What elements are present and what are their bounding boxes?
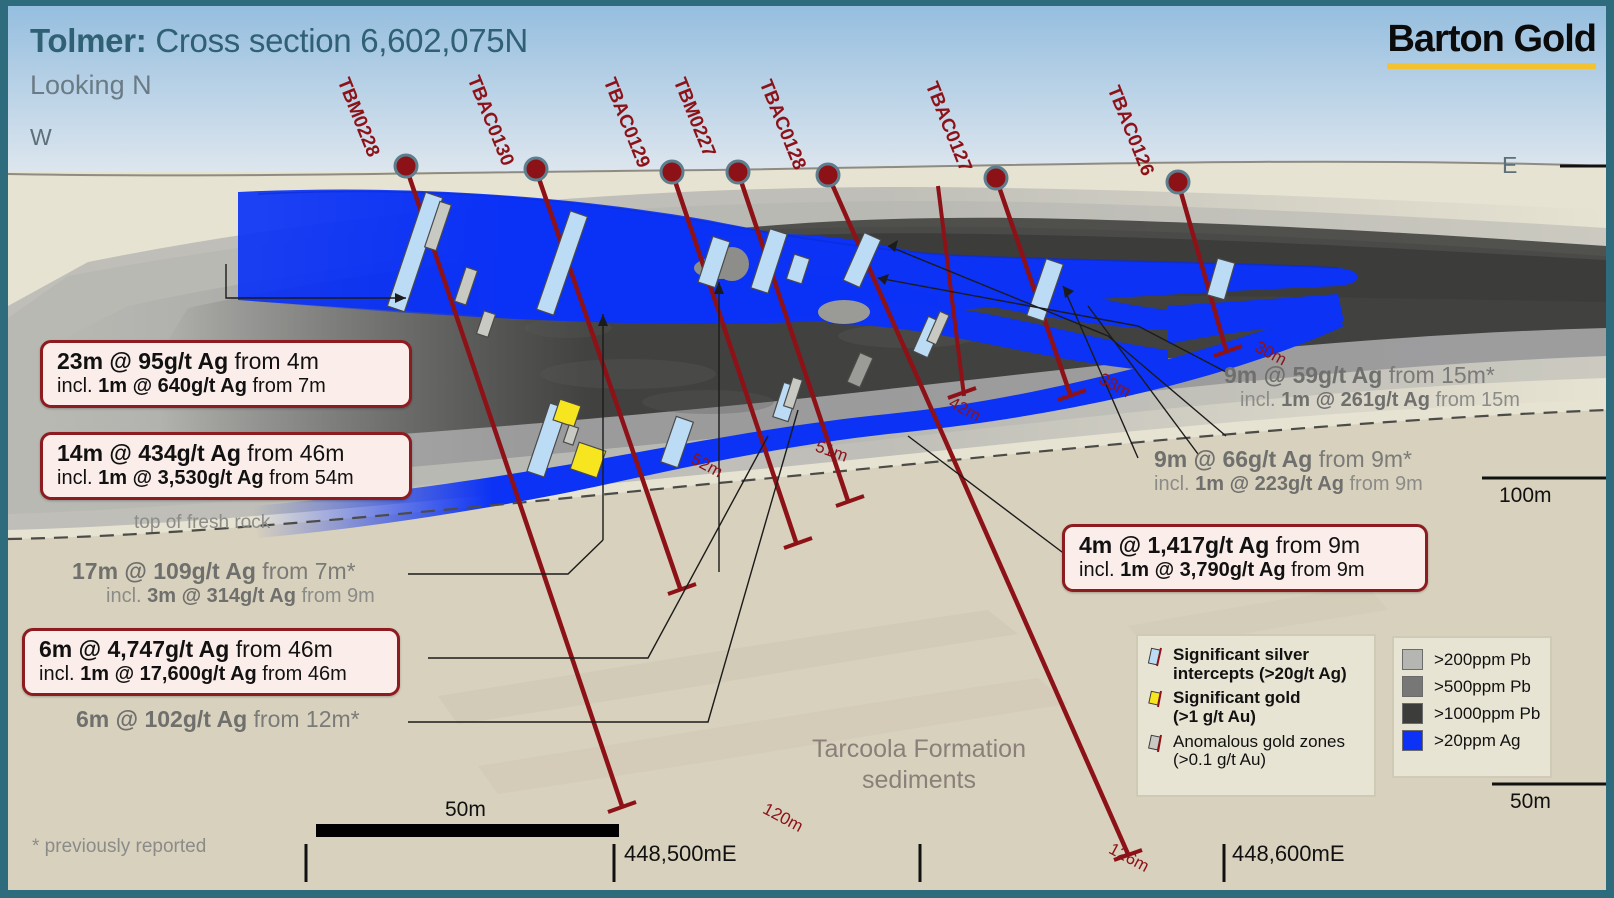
grey-annotation-1: 17m @ 109g/t Ag from 7m* incl. 3m @ 314g…: [72, 558, 375, 608]
title-bold: Tolmer:: [30, 22, 146, 59]
legend-pb1000-label: >1000ppm Pb: [1434, 704, 1540, 724]
callout-box-4: 4m @ 1,417g/t Ag from 9m incl. 1m @ 3,79…: [1062, 524, 1428, 592]
looking-direction: Looking N: [30, 70, 152, 101]
gold-intercept-icon: [1148, 689, 1168, 711]
scale-bar-label: 50m: [445, 798, 486, 822]
callout-4-line2: incl. 1m @ 3,790g/t Ag from 9m: [1079, 559, 1411, 582]
grey-4-line1: 9m @ 66g/t Ag from 9m*: [1154, 446, 1423, 473]
grey-annotation-2: 6m @ 102g/t Ag from 12m*: [76, 706, 360, 733]
formation-line-2: sediments: [794, 765, 1044, 796]
anomalous-gold-icon: [1148, 733, 1168, 755]
legend-anomalous-text: Anomalous gold zones(>0.1 g/t Au): [1173, 733, 1345, 770]
grey-4-line2: incl. 1m @ 223g/t Ag from 9m: [1154, 473, 1423, 496]
formation-label: Tarcoola Formation sediments: [794, 734, 1044, 797]
legend-item-silver: Significant silverintercepts (>20g/t Ag): [1148, 646, 1366, 683]
elevation-label-50m: 50m: [1510, 790, 1551, 814]
callout-box-2: 14m @ 434g/t Ag from 46m incl. 1m @ 3,53…: [40, 432, 412, 500]
page-title: Tolmer: Cross section 6,602,075N: [30, 22, 528, 60]
swatch-pb1000: [1402, 703, 1423, 724]
screenshot-root: Tolmer: Cross section 6,602,075N Looking…: [0, 0, 1614, 898]
legend-pb500-label: >500ppm Pb: [1434, 677, 1531, 697]
swatch-pb200: [1402, 649, 1423, 670]
title-rest: Cross section 6,602,075N: [146, 22, 527, 59]
grey-1-line1: 17m @ 109g/t Ag from 7m*: [72, 558, 375, 585]
legend-color-row-1: >500ppm Pb: [1402, 676, 1542, 697]
legend-item-gold: Significant gold(>1 g/t Au): [1148, 689, 1366, 726]
callout-3-line2: incl. 1m @ 17,600g/t Ag from 46m: [39, 663, 383, 686]
callout-3-line1: 6m @ 4,747g/t Ag from 46m: [39, 636, 383, 663]
legend-color-row-2: >1000ppm Pb: [1402, 703, 1542, 724]
footnote: * previously reported: [32, 836, 206, 858]
west-label: W: [30, 124, 52, 151]
swatch-ag20: [1402, 730, 1423, 751]
grey-annotation-3: 9m @ 59g/t Ag from 15m* incl. 1m @ 261g/…: [1224, 362, 1520, 412]
company-logo: Barton Gold: [1387, 18, 1596, 69]
cross-section-figure: Tolmer: Cross section 6,602,075N Looking…: [8, 6, 1606, 890]
elevation-label-100m: 100m: [1499, 484, 1552, 508]
logo-underline: [1387, 63, 1596, 69]
legend-item-anomalous: Anomalous gold zones(>0.1 g/t Au): [1148, 733, 1366, 770]
callout-box-1: 23m @ 95g/t Ag from 4m incl. 1m @ 640g/t…: [40, 340, 412, 408]
callout-2-line1: 14m @ 434g/t Ag from 46m: [57, 440, 395, 467]
legend-symbols: Significant silverintercepts (>20g/t Ag)…: [1136, 634, 1376, 797]
callout-1-line1: 23m @ 95g/t Ag from 4m: [57, 348, 395, 375]
grey-3-line1: 9m @ 59g/t Ag from 15m*: [1224, 362, 1520, 389]
legend-pb200-label: >200ppm Pb: [1434, 650, 1531, 670]
legend-colors: >200ppm Pb >500ppm Pb >1000ppm Pb >20ppm…: [1392, 636, 1552, 778]
silver-intercept-icon: [1148, 646, 1168, 668]
legend-silver-text: Significant silverintercepts (>20g/t Ag): [1173, 646, 1347, 683]
callout-box-3: 6m @ 4,747g/t Ag from 46m incl. 1m @ 17,…: [22, 628, 400, 696]
grey-2-line1: 6m @ 102g/t Ag from 12m*: [76, 706, 360, 733]
top-of-fresh-rock-label: top of fresh rock: [134, 512, 270, 534]
swatch-pb500: [1402, 676, 1423, 697]
grey-annotation-4: 9m @ 66g/t Ag from 9m* incl. 1m @ 223g/t…: [1154, 446, 1423, 496]
scale-bar: [316, 824, 619, 837]
legend-ag20-label: >20ppm Ag: [1434, 731, 1521, 751]
grey-1-line2: incl. 3m @ 314g/t Ag from 9m: [72, 585, 375, 608]
formation-line-1: Tarcoola Formation: [794, 734, 1044, 765]
callout-4-line1: 4m @ 1,417g/t Ag from 9m: [1079, 532, 1411, 559]
callout-1-line2: incl. 1m @ 640g/t Ag from 7m: [57, 375, 395, 398]
legend-gold-text: Significant gold(>1 g/t Au): [1173, 689, 1301, 726]
grey-3-line2: incl. 1m @ 261g/t Ag from 15m: [1224, 389, 1520, 412]
legend-color-row-0: >200ppm Pb: [1402, 649, 1542, 670]
logo-text: Barton Gold: [1387, 18, 1596, 61]
easting-label-west: 448,500mE: [624, 841, 737, 867]
legend-color-row-3: >20ppm Ag: [1402, 730, 1542, 751]
east-label: E: [1502, 152, 1517, 179]
callout-2-line2: incl. 1m @ 3,530g/t Ag from 54m: [57, 467, 395, 490]
easting-label-east: 448,600mE: [1232, 841, 1345, 867]
